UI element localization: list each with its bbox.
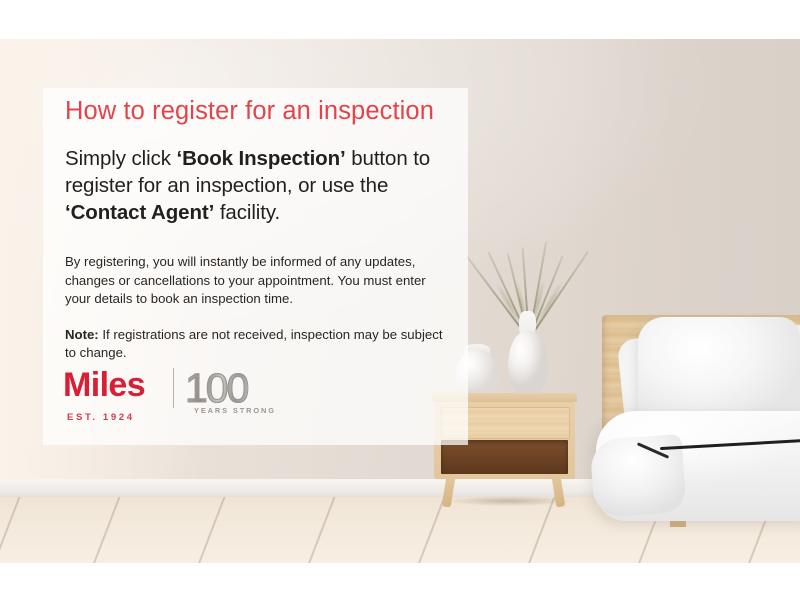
anniversary-numeral: 100 xyxy=(185,365,247,412)
floor-plank xyxy=(80,497,132,563)
miles-logo-lockup: Miles EST. 1924 100 YEARS STRONG xyxy=(63,366,303,428)
content-panel-contents: How to register for an inspection Simply… xyxy=(43,88,468,445)
page-title: How to register for an inspection xyxy=(65,97,434,126)
note-label: Note: xyxy=(65,327,99,342)
nightstand-open-shelf xyxy=(441,440,568,474)
anniversary-caption: YEARS STRONG xyxy=(194,406,276,415)
body-paragraph: By registering, you will instantly be in… xyxy=(65,253,449,309)
note-paragraph: Note: If registrations are not received,… xyxy=(65,326,449,363)
nightstand-leg-right xyxy=(552,476,566,507)
logo-divider xyxy=(173,368,174,408)
established-text: EST. 1924 xyxy=(67,412,135,423)
contact-agent-emphasis: ‘Contact Agent’ xyxy=(65,201,214,224)
book-inspection-emphasis: ‘Book Inspection’ xyxy=(176,147,345,170)
nightstand-leg-left xyxy=(442,476,456,507)
paragraph-spacer xyxy=(65,309,449,326)
lead-paragraph: Simply click ‘Book Inspection’ button to… xyxy=(65,145,461,226)
tall-vase xyxy=(508,331,548,397)
brand-wordmark: Miles xyxy=(63,366,145,405)
floor-plank xyxy=(0,497,32,563)
lead-text-before: Simply click xyxy=(65,147,176,170)
supporting-text: By registering, you will instantly be in… xyxy=(65,253,449,363)
lead-text-after: facility. xyxy=(214,201,280,224)
floor-plank xyxy=(295,497,347,563)
note-text: If registrations are not received, inspe… xyxy=(65,327,443,361)
promotional-banner: How to register for an inspection Simply… xyxy=(0,0,800,600)
floor-plank xyxy=(185,497,237,563)
